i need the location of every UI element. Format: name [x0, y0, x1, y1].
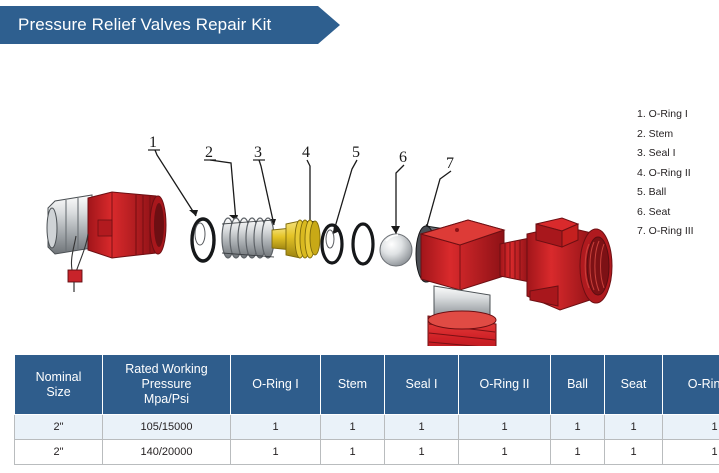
col-header-oring-1: O-Ring I — [231, 355, 321, 415]
cell-seat: 1 — [605, 440, 663, 465]
cell-stem: 1 — [321, 415, 385, 440]
cell-nominal-size: 2" — [15, 440, 103, 465]
cell-oring-2: 1 — [459, 415, 551, 440]
legend-item-6: 6. Seat — [637, 203, 719, 223]
col-header-rated-line3: Mpa/Psi — [105, 392, 228, 407]
exploded-diagram: 1 2 3 4 5 6 7 — [0, 48, 719, 346]
callout-7: 7 — [446, 155, 454, 172]
cell-oring-3: 1 — [663, 440, 719, 465]
part-oring-2 — [322, 224, 373, 264]
part-valve-body — [421, 218, 612, 346]
legend-item-5: 5. Ball — [637, 183, 719, 203]
callout-6: 6 — [399, 149, 407, 166]
legend-item-4: 4. O-Ring II — [637, 164, 719, 184]
table-head: Nominal Size Rated Working Pressure Mpa/… — [15, 355, 719, 415]
legend-item-3: 3. Seal I — [637, 144, 719, 164]
part-stem — [222, 218, 292, 258]
callout-4: 4 — [302, 144, 310, 161]
cell-oring-1: 1 — [231, 415, 321, 440]
parts-legend: 1. O-Ring I 2. Stem 3. Seal I 4. O-Ring … — [637, 105, 719, 242]
cell-oring-2: 1 — [459, 440, 551, 465]
cell-ball: 1 — [551, 440, 605, 465]
table-row: 2" 105/15000 1 1 1 1 1 1 1 — [15, 415, 719, 440]
cell-rated-pressure: 105/15000 — [103, 415, 231, 440]
callout-5: 5 — [352, 144, 360, 161]
col-header-rated-pressure: Rated Working Pressure Mpa/Psi — [103, 355, 231, 415]
part-cap-assembly — [47, 192, 166, 292]
table-body: 2" 105/15000 1 1 1 1 1 1 1 2" 140/20000 … — [15, 415, 719, 465]
cell-seat: 1 — [605, 415, 663, 440]
legend-item-7: 7. O-Ring III — [637, 222, 719, 242]
callout-3: 3 — [254, 144, 262, 161]
col-header-nominal-line2: Size — [17, 385, 100, 400]
col-header-nominal-size: Nominal Size — [15, 355, 103, 415]
table-row: 2" 140/20000 1 1 1 1 1 1 1 — [15, 440, 719, 465]
legend-item-2: 2. Stem — [637, 125, 719, 145]
cell-oring-1: 1 — [231, 440, 321, 465]
page-banner: Pressure Relief Valves Repair Kit — [0, 6, 340, 44]
col-header-rated-line1: Rated Working — [105, 362, 228, 377]
callout-numbers: 1 2 3 4 5 6 7 — [149, 134, 454, 172]
col-header-stem: Stem — [321, 355, 385, 415]
part-oring-1 — [192, 219, 214, 261]
callout-1: 1 — [149, 134, 157, 151]
legend-item-1: 1. O-Ring I — [637, 105, 719, 125]
col-header-nominal-line1: Nominal — [17, 370, 100, 385]
cell-rated-pressure: 140/20000 — [103, 440, 231, 465]
cell-seal-1: 1 — [385, 415, 459, 440]
table-header-row: Nominal Size Rated Working Pressure Mpa/… — [15, 355, 719, 415]
part-seal-1 — [286, 220, 320, 258]
page-title: Pressure Relief Valves Repair Kit — [18, 6, 271, 44]
col-header-oring-2: O-Ring II — [459, 355, 551, 415]
col-header-rated-line2: Pressure — [105, 377, 228, 392]
cell-ball: 1 — [551, 415, 605, 440]
cell-nominal-size: 2" — [15, 415, 103, 440]
cell-oring-3: 1 — [663, 415, 719, 440]
col-header-ball: Ball — [551, 355, 605, 415]
cell-seal-1: 1 — [385, 440, 459, 465]
callout-2: 2 — [205, 144, 213, 161]
col-header-seat: Seat — [605, 355, 663, 415]
parts-specification-table: Nominal Size Rated Working Pressure Mpa/… — [14, 354, 719, 465]
cell-stem: 1 — [321, 440, 385, 465]
col-header-seal-1: Seal I — [385, 355, 459, 415]
part-ball — [380, 234, 412, 266]
col-header-oring-3: O-Ring III — [663, 355, 719, 415]
